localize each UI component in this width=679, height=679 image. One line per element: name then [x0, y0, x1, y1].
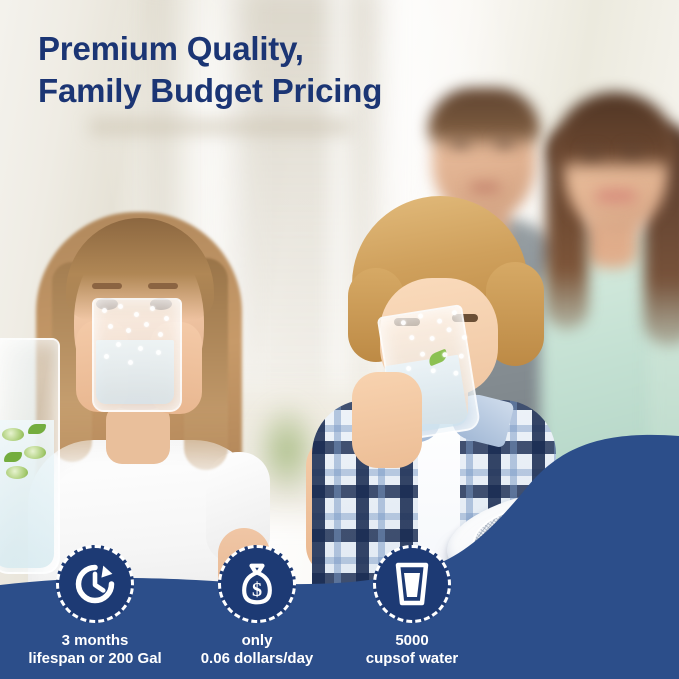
kitchen-shelf	[90, 120, 350, 134]
money-bag-icon: $	[218, 545, 296, 623]
father-eye-right	[496, 140, 513, 147]
feature-lifespan-text: 3 months lifespan or 200 Gal	[28, 632, 161, 667]
mother-eye-left	[584, 150, 600, 157]
page-title: Premium Quality, Family Budget Pricing	[38, 28, 468, 112]
cucumber-slice	[2, 428, 24, 441]
svg-text:$: $	[252, 579, 262, 601]
water-filter-pitcher	[432, 470, 679, 679]
feature-capacity-text: 5000 cupsof water	[366, 632, 459, 667]
water-glass-icon	[373, 545, 451, 623]
feature-cost: $ only 0.06 dollars/day	[202, 545, 312, 667]
headline-line-2: Family Budget Pricing	[38, 70, 468, 112]
girl-brow-left	[92, 283, 122, 289]
feature-lifespan: 3 months lifespan or 200 Gal	[40, 545, 150, 667]
father-eye-left	[452, 140, 469, 147]
mother-mouth	[596, 190, 636, 202]
feature-lifespan-line2: lifespan or 200 Gal	[28, 650, 161, 668]
feature-capacity-line1: 5000	[395, 632, 428, 649]
feature-cost-text: only 0.06 dollars/day	[201, 632, 314, 667]
boy-hand	[352, 372, 422, 468]
feature-cost-line2: 0.06 dollars/day	[201, 650, 314, 668]
mother-eye-right	[624, 148, 640, 155]
feature-badges: 3 months lifespan or 200 Gal $ only 0.06…	[40, 545, 460, 667]
cucumber-slice	[24, 446, 46, 459]
cucumber-slice	[6, 466, 28, 479]
feature-capacity-line2: cupsof water	[366, 650, 459, 668]
girl-brow-right	[148, 283, 178, 289]
headline-line-1: Premium Quality,	[38, 28, 468, 70]
clock-refresh-icon	[56, 545, 134, 623]
girl-neck	[106, 404, 170, 464]
father-mouth	[470, 184, 500, 191]
pitcher-body-shading	[454, 590, 660, 644]
feature-lifespan-line1: 3 months	[62, 632, 129, 649]
feature-capacity: 5000 cupsof water	[364, 545, 460, 667]
feature-cost-line1: only	[242, 632, 273, 649]
product-ad-image: Premium Quality, Family Budget Pricing 3…	[0, 0, 679, 679]
girl-glass-water	[96, 340, 174, 404]
